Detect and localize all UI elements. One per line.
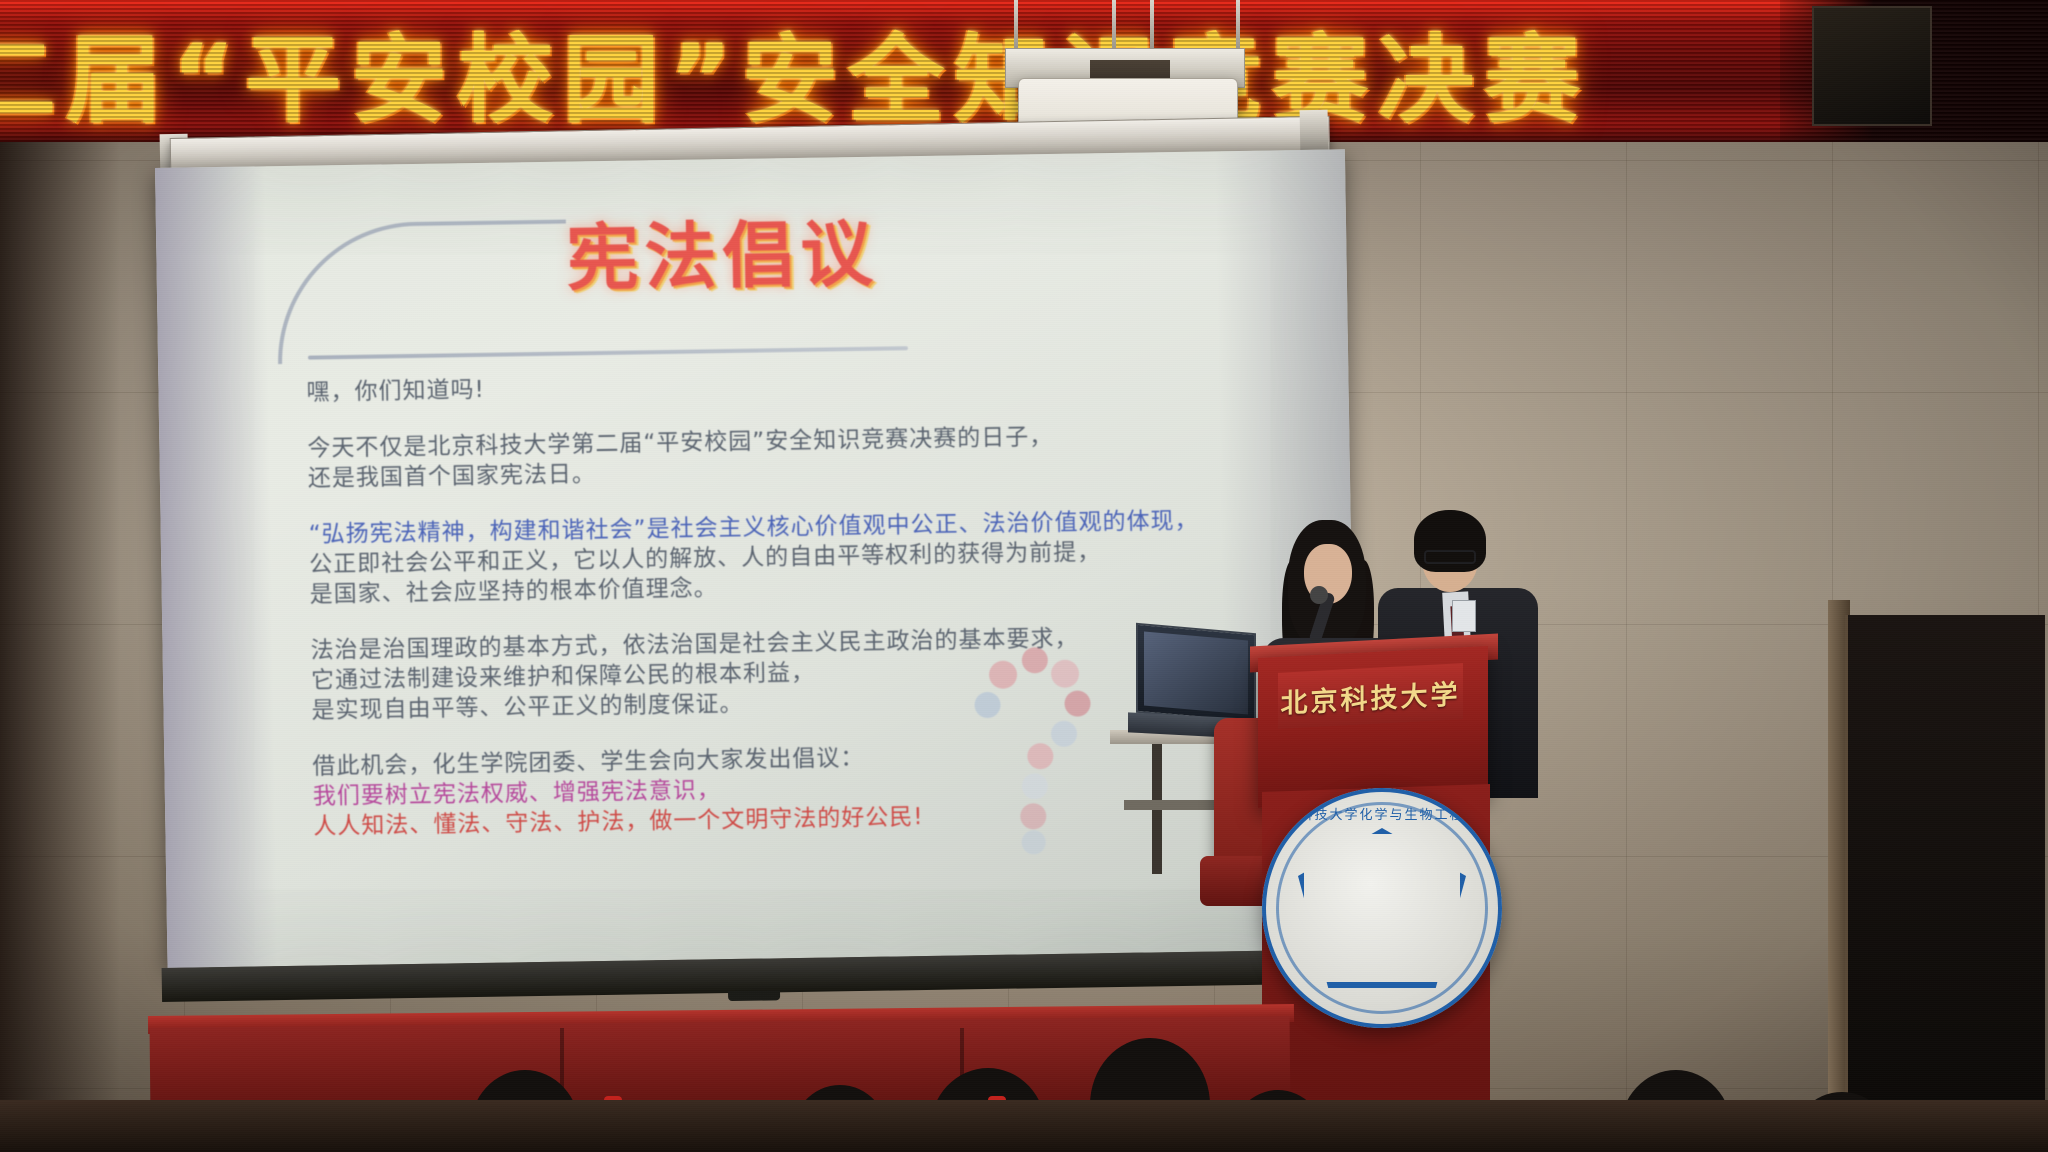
projection-screen: 宪法倡议 嘿，你们知道吗! 今天不仅是北京科技大学第二届“平安校园”安全知识竞赛…: [155, 149, 1358, 1006]
screen-left-shadow: [155, 166, 278, 968]
screen-canvas: 宪法倡议 嘿，你们知道吗! 今天不仅是北京科技大学第二届“平安校园”安全知识竞赛…: [155, 149, 1357, 968]
podium-institution-text: 北京科技大学: [1281, 672, 1461, 720]
wall-speaker: [1812, 6, 1932, 126]
name-badge: [1452, 600, 1476, 632]
screen-pull-tab: [728, 990, 780, 1001]
slide-paragraph-spirit: “弘扬宪法精神，构建和谐社会”是社会主义核心价值观中公正、法治价值观的体现， 公…: [309, 505, 1270, 610]
led-banner-text: 二届“平安校园”安全知识竞赛决赛: [0, 6, 1600, 136]
laptop-display: [1144, 631, 1248, 714]
emblem-text: 北京科技大学化学与生物工程学院: [1262, 804, 1502, 823]
scene-photo: 二届“平安校园”安全知识竞赛决赛 EPSON 宪法倡议 嘿，你们知道吗!: [0, 0, 2048, 1152]
eyeglasses: [1424, 550, 1476, 564]
podium-nameplate: 北京科技大学: [1278, 663, 1463, 729]
slide-question-mark-graphic: [942, 633, 1135, 856]
floor: [0, 1100, 2048, 1152]
doorway: [1845, 615, 2045, 1152]
wall-left-shadow: [0, 130, 120, 1152]
presenter-laptop: [1136, 623, 1256, 723]
presentation-slide: 宪法倡议 嘿，你们知道吗! 今天不仅是北京科技大学第二届“平安校园”安全知识竞赛…: [155, 149, 1357, 968]
college-emblem: 北京科技大学化学与生物工程学院: [1262, 788, 1502, 1028]
slide-title-decor-arc: [276, 220, 568, 365]
slide-title: 宪法倡议: [566, 195, 880, 305]
microphone-head: [1310, 586, 1328, 604]
